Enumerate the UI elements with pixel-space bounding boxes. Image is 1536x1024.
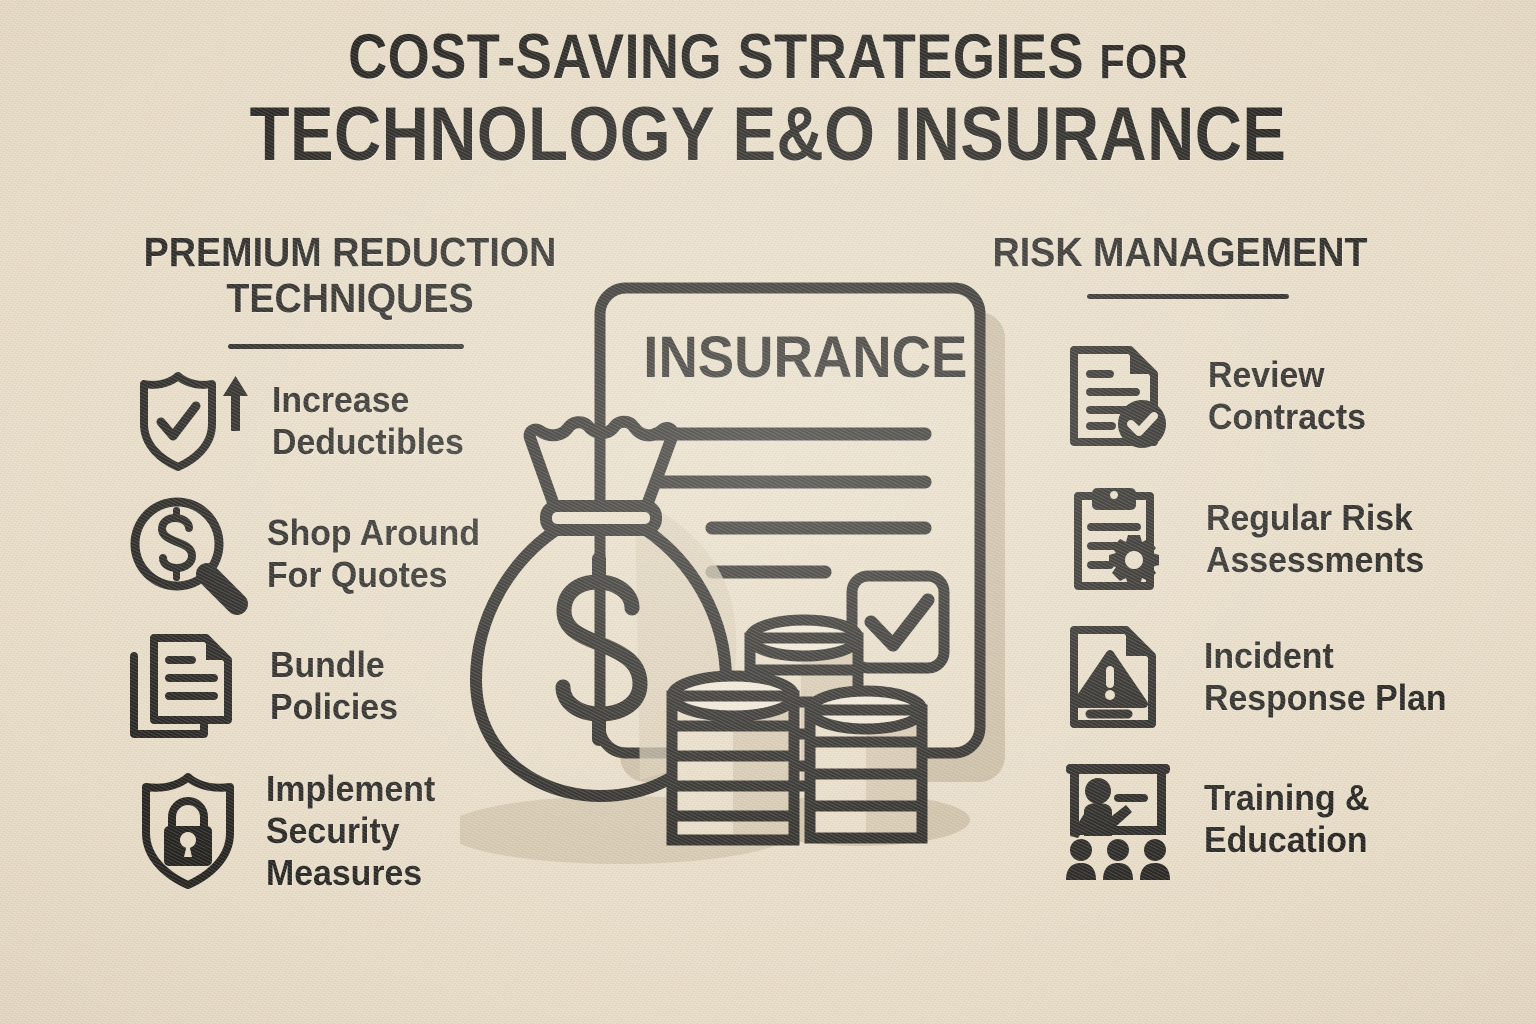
title-main-text: COST-SAVING STRATEGIES [348,22,1084,92]
page-title: COST-SAVING STRATEGIES FOR TECHNOLOGY E&… [0,26,1536,174]
title-line-2: TECHNOLOGY E&O INSURANCE [108,96,1429,174]
list-item-regular-risk-assessments[interactable]: Regular Risk Assessments [1062,482,1482,596]
center-illustration: INSURANCE [460,260,1060,880]
list-item-label: Shop Around For Quotes [267,512,480,596]
list-item-increase-deductibles[interactable]: Increase Deductibles [128,368,508,474]
list-item-training-education[interactable]: Training & Education [1058,758,1488,880]
list-item-label: Training & Education [1204,777,1369,861]
stacked-documents-icon [126,630,248,742]
checkbox-checked-icon [852,576,944,668]
list-item-label: Implement Security Measures [266,768,435,894]
shield-lock-icon [132,771,244,891]
list-item-bundle-policies[interactable]: Bundle Policies [126,630,506,742]
svg-text:INSURANCE: INSURANCE [643,324,967,389]
list-item-label: Increase Deductibles [272,379,464,463]
list-item-implement-security[interactable]: Implement Security Measures [132,768,512,894]
list-item-label: Regular Risk Assessments [1206,497,1424,581]
magnifier-dollar-icon [125,492,253,616]
list-item-shop-around[interactable]: Shop Around For Quotes [125,492,505,616]
clipboard-gear-icon [1062,482,1168,596]
training-presentation-icon [1058,758,1178,880]
document-warning-icon [1064,622,1166,732]
right-heading-rule [1087,294,1289,299]
document-check-icon [1064,340,1168,452]
list-item-label: Bundle Policies [270,644,398,728]
list-item-label: Incident Response Plan [1204,635,1447,719]
list-item-label: Review Contracts [1208,354,1366,438]
title-for-text: FOR [1100,36,1188,89]
list-item-incident-response-plan[interactable]: Incident Response Plan [1064,622,1494,732]
list-item-review-contracts[interactable]: Review Contracts [1064,340,1484,452]
title-line-1: COST-SAVING STRATEGIES FOR [108,26,1429,89]
left-heading-rule [228,344,464,349]
shield-check-up-arrow-icon [128,368,258,474]
